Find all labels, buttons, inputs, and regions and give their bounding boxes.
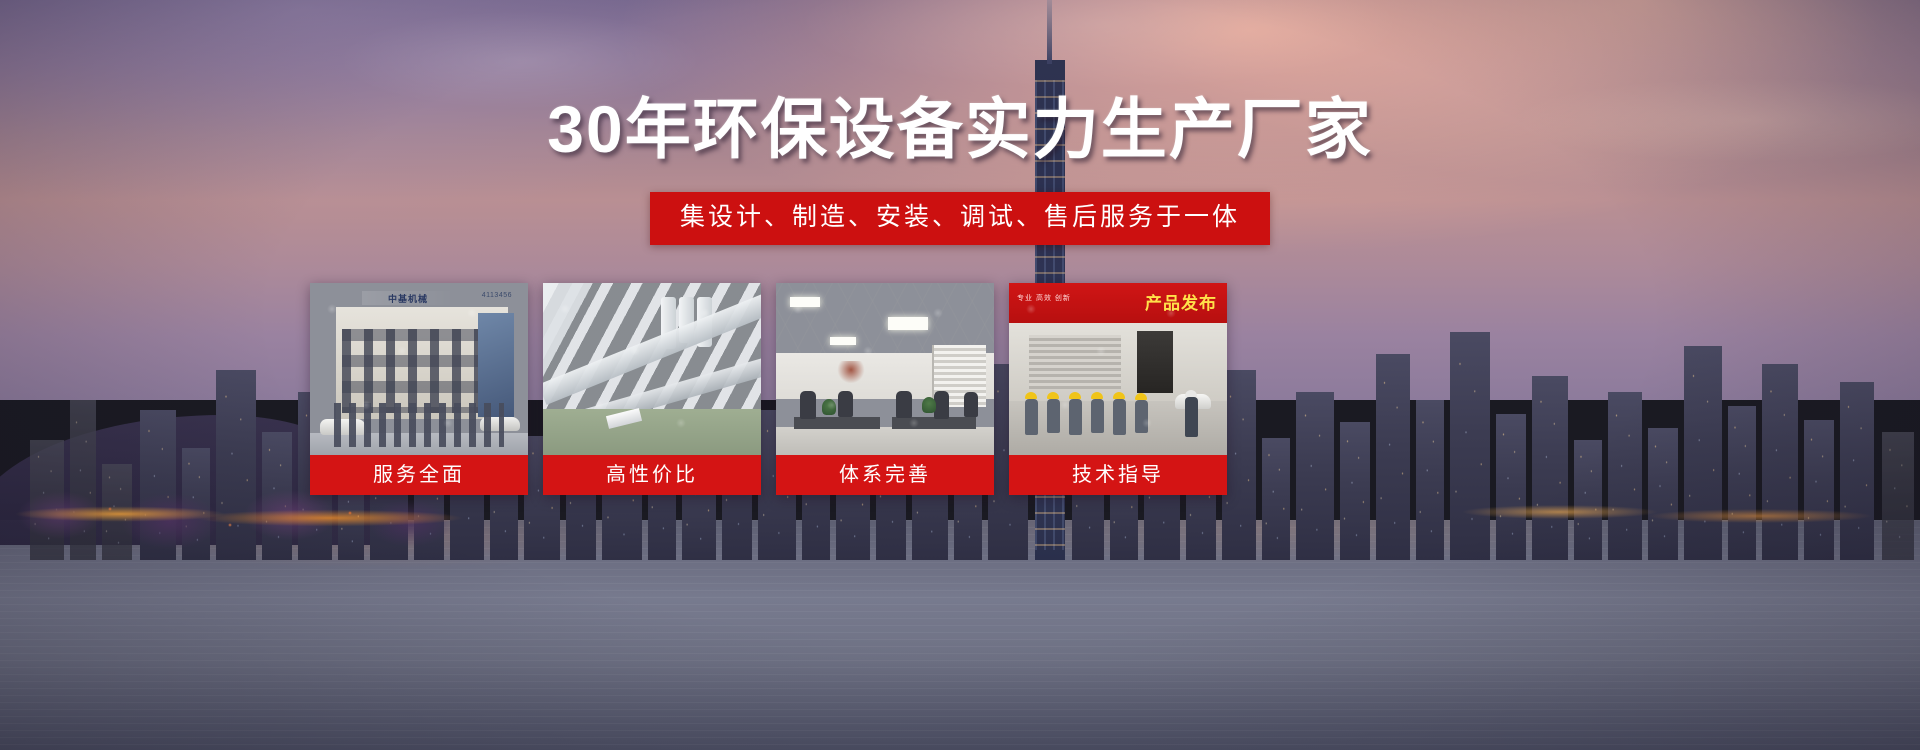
card-photo-office-building: 中基机械 4113456	[310, 283, 528, 455]
card-label-value: 高性价比	[543, 455, 761, 495]
building-sign-text: 中基机械	[362, 291, 454, 305]
card-label-system: 体系完善	[776, 455, 994, 495]
feature-card-list: 中基机械 4113456 服务全面 高性价比	[310, 283, 1560, 495]
feature-card-guidance[interactable]: 专业 高效 创新 产品发布	[1009, 283, 1227, 495]
workshop-red-banner: 专业 高效 创新 产品发布	[1009, 283, 1227, 325]
feature-card-system[interactable]: 体系完善	[776, 283, 994, 495]
card-label-service: 服务全面	[310, 455, 528, 495]
banner-headline: 30年环保设备实力生产厂家	[0, 96, 1920, 162]
card-label-guidance: 技术指导	[1009, 455, 1227, 495]
workshop-banner-text: 产品发布	[1145, 289, 1217, 314]
card-photo-office-interior	[776, 283, 994, 455]
shoreline-lights	[0, 500, 1920, 534]
subtitle-wrapper: 集设计、制造、安装、调试、售后服务于一体	[0, 192, 1920, 245]
tower-spire	[1047, 0, 1052, 64]
building-phone-number: 4113456	[482, 292, 512, 299]
feature-card-value[interactable]: 高性价比	[543, 283, 761, 495]
card-photo-aerial-plant	[543, 283, 761, 455]
hero-banner: 30年环保设备实力生产厂家 集设计、制造、安装、调试、售后服务于一体 中基机械 …	[0, 0, 1920, 750]
workshop-banner-subtext: 专业 高效 创新	[1017, 293, 1071, 303]
card-photo-workshop: 专业 高效 创新 产品发布	[1009, 283, 1227, 455]
feature-card-service[interactable]: 中基机械 4113456 服务全面	[310, 283, 528, 495]
banner-subtitle-badge: 集设计、制造、安装、调试、售后服务于一体	[650, 192, 1270, 245]
